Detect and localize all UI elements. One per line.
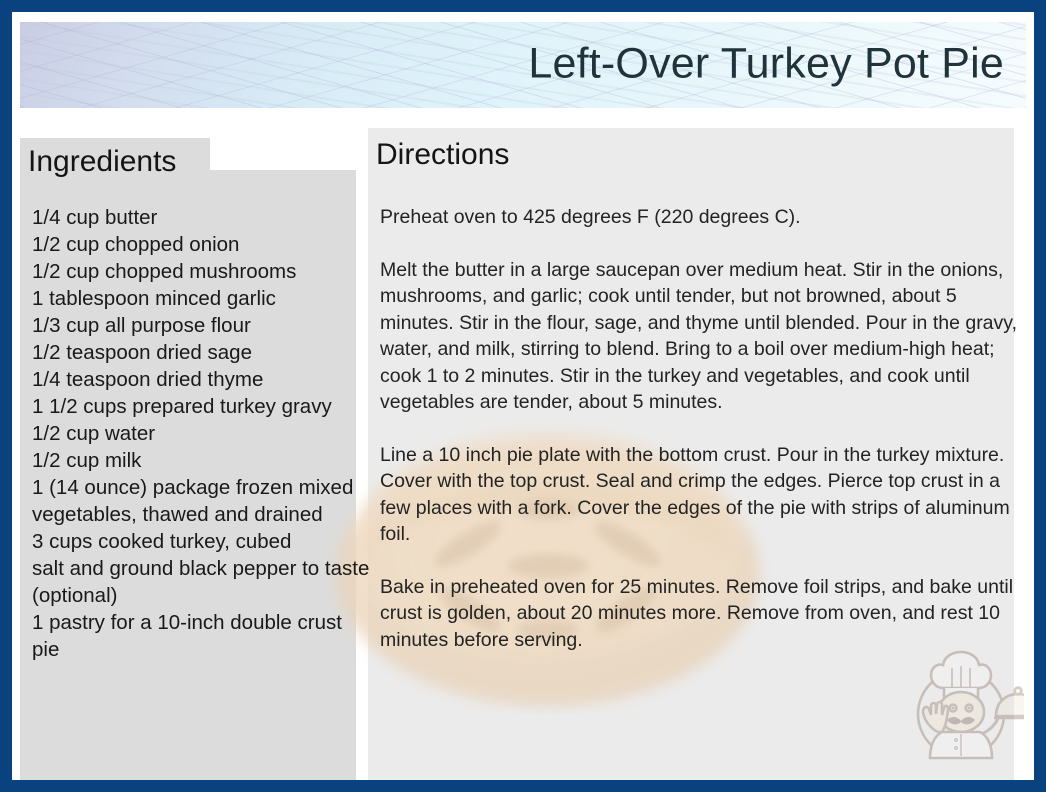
ingredient-item: 1/2 cup water (32, 420, 370, 447)
ingredient-item: 1 tablespoon minced garlic (32, 285, 370, 312)
ingredient-item: 1 (14 ounce) package frozen mixed vegeta… (32, 474, 370, 528)
direction-step: Bake in preheated oven for 25 minutes. R… (380, 574, 1022, 654)
ingredients-list: 1/4 cup butter1/2 cup chopped onion1/2 c… (32, 204, 370, 663)
title-banner: Left-Over Turkey Pot Pie (20, 22, 1026, 108)
directions-header-label: Directions (376, 140, 509, 170)
ingredient-item: 1/2 cup milk (32, 447, 370, 474)
direction-step: Melt the butter in a large saucepan over… (380, 257, 1022, 416)
directions-header: Directions (368, 128, 533, 182)
ingredient-item: 1/4 cup butter (32, 204, 370, 231)
ingredient-item: 1/4 teaspoon dried thyme (32, 366, 370, 393)
ingredients-header-label: Ingredients (28, 147, 176, 177)
directions-body: Preheat oven to 425 degrees F (220 degre… (380, 204, 1022, 653)
ingredient-item: 1 1/2 cups prepared turkey gravy (32, 393, 370, 420)
page-title: Left-Over Turkey Pot Pie (528, 43, 1004, 86)
ingredient-item: 1 pastry for a 10-inch double crust pie (32, 609, 370, 663)
ingredient-item: 1/2 cup chopped mushrooms (32, 258, 370, 285)
chef-logo-icon (898, 644, 1024, 766)
ingredient-item: salt and ground black pepper to taste (o… (32, 555, 370, 609)
ingredients-header: Ingredients (20, 138, 210, 186)
ingredient-item: 3 cups cooked turkey, cubed (32, 528, 370, 555)
direction-step: Preheat oven to 425 degrees F (220 degre… (380, 204, 1022, 231)
ingredient-item: 1/3 cup all purpose flour (32, 312, 370, 339)
ingredient-item: 1/2 cup chopped onion (32, 231, 370, 258)
ingredient-item: 1/2 teaspoon dried sage (32, 339, 370, 366)
recipe-card: Left-Over Turkey Pot Pie (0, 0, 1046, 792)
direction-step: Line a 10 inch pie plate with the bottom… (380, 442, 1022, 548)
